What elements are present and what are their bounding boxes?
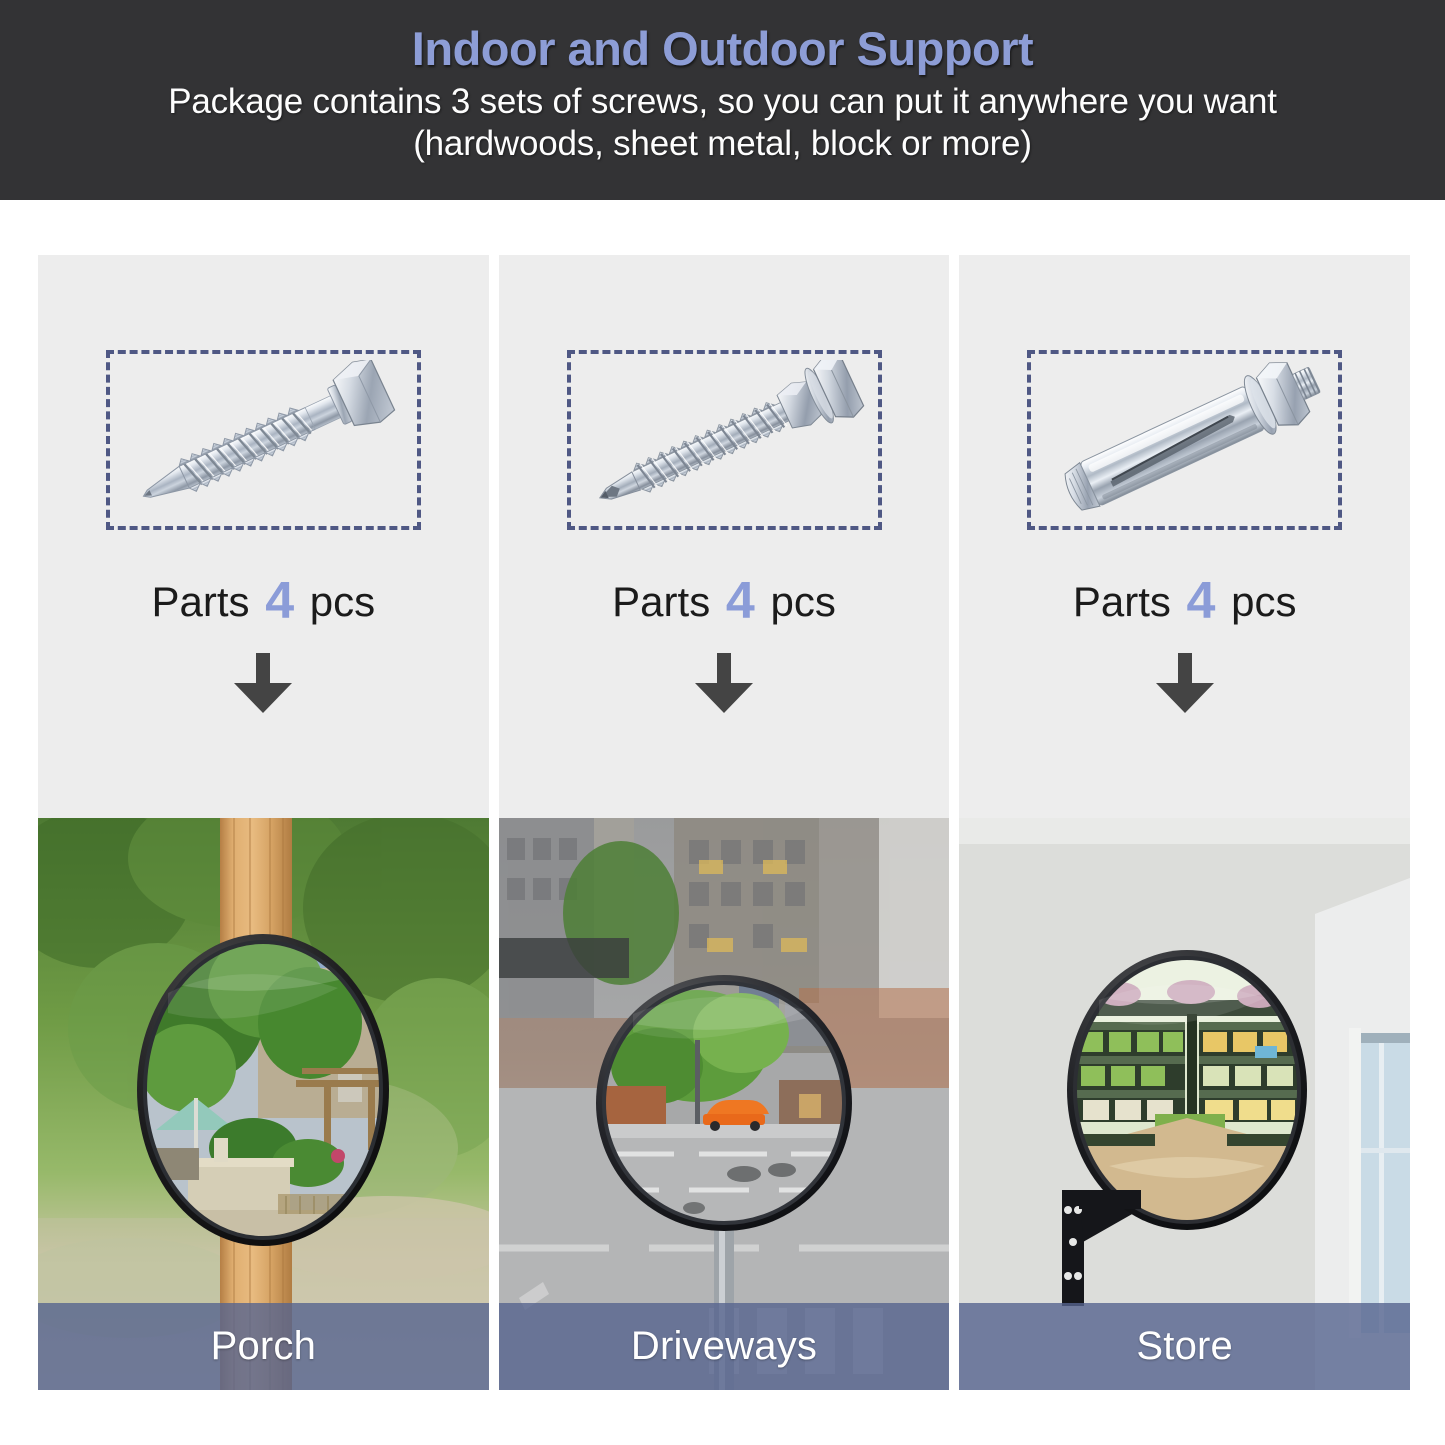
parts-qty-2: 4 <box>726 572 755 630</box>
arrow-down-icon <box>691 653 757 715</box>
scene-label-1: Porch <box>38 1303 489 1390</box>
parts-qty-1: 4 <box>265 572 294 630</box>
scene-label-2: Driveways <box>499 1303 950 1390</box>
arrow-down-wrap-1 <box>38 653 489 715</box>
column-driveways: Parts 4 pcs <box>499 255 950 1390</box>
spec-panel-2: Parts 4 pcs <box>499 255 950 818</box>
page-title: Indoor and Outdoor Support <box>412 24 1033 75</box>
scene-label-text-3: Store <box>1136 1324 1233 1369</box>
parts-count-2: Parts 4 pcs <box>499 571 950 631</box>
column-store: Parts 4 pcs <box>959 255 1410 1390</box>
parts-count-1: Parts 4 pcs <box>38 571 489 631</box>
page-subtitle: Package contains 3 sets of screws, so yo… <box>93 81 1353 165</box>
scene-label-text-2: Driveways <box>631 1324 817 1369</box>
scene-photo-3: Store <box>959 818 1410 1390</box>
self-drilling-screw-icon <box>579 360 869 520</box>
scene-photo-1: Porch <box>38 818 489 1390</box>
header-banner: Indoor and Outdoor Support Package conta… <box>0 0 1445 200</box>
column-porch: Parts 4 pcs <box>38 255 489 1390</box>
columns-container: Parts 4 pcs <box>38 255 1410 1390</box>
sleeve-anchor-bolt-icon <box>1040 360 1330 520</box>
scene-label-3: Store <box>959 1303 1410 1390</box>
parts-suffix-2: pcs <box>770 578 835 625</box>
infographic-page: Indoor and Outdoor Support Package conta… <box>0 0 1445 1445</box>
parts-suffix-3: pcs <box>1231 578 1296 625</box>
parts-prefix-1: Parts <box>152 578 250 625</box>
part-highlight-box-3 <box>1027 350 1342 530</box>
arrow-down-wrap-2 <box>499 653 950 715</box>
scene-label-text-1: Porch <box>211 1324 317 1369</box>
parts-prefix-2: Parts <box>612 578 710 625</box>
parts-count-3: Parts 4 pcs <box>959 571 1410 631</box>
lag-screw-icon <box>119 360 409 520</box>
arrow-down-icon <box>230 653 296 715</box>
part-highlight-box-2 <box>567 350 882 530</box>
part-highlight-box-1 <box>106 350 421 530</box>
arrow-down-wrap-3 <box>959 653 1410 715</box>
parts-qty-3: 4 <box>1187 572 1216 630</box>
parts-suffix-1: pcs <box>310 578 375 625</box>
spec-panel-3: Parts 4 pcs <box>959 255 1410 818</box>
scene-photo-2: Driveways <box>499 818 950 1390</box>
spec-panel-1: Parts 4 pcs <box>38 255 489 818</box>
arrow-down-icon <box>1152 653 1218 715</box>
parts-prefix-3: Parts <box>1073 578 1171 625</box>
